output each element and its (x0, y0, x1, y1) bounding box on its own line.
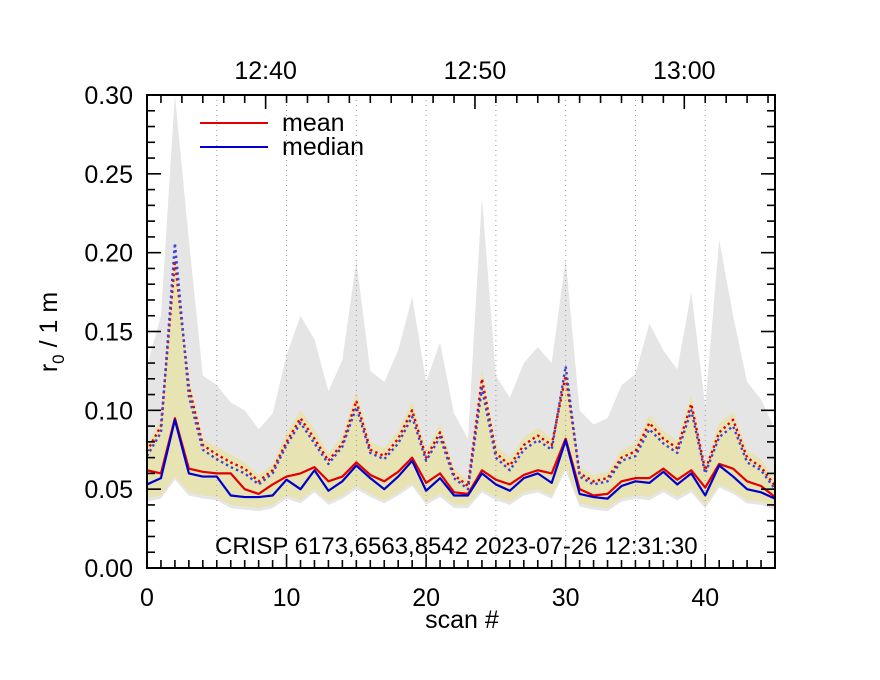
x-tick-label-3: 30 (552, 584, 580, 612)
figure-container: 0.000.050.100.150.200.250.3001020304012:… (0, 0, 880, 680)
x-tick-label-4: 40 (691, 584, 719, 612)
legend-label-median: median (282, 133, 364, 161)
top-tick-label-1: 12:50 (444, 57, 507, 85)
y-tick-label-6: 0.30 (84, 82, 133, 110)
y-axis-title-rest: / 1 m (35, 292, 63, 355)
chart-canvas: 0.000.050.100.150.200.250.3001020304012:… (0, 0, 880, 680)
y-tick-label-0: 0.00 (84, 555, 133, 583)
y-tick-label-1: 0.05 (84, 476, 133, 504)
x-tick-label-0: 0 (140, 584, 154, 612)
top-tick-label-2: 13:00 (653, 57, 716, 85)
y-tick-label-4: 0.20 (84, 240, 133, 268)
y-tick-label-3: 0.15 (84, 319, 133, 347)
chart-annotation: CRISP 6173,6563,8542 2023-07-26 12:31:30 (215, 533, 698, 560)
y-axis-title-base: r (35, 364, 63, 372)
y-axis-title-subscript: 0 (49, 354, 68, 363)
x-axis-title: scan # (425, 606, 499, 634)
x-tick-label-1: 10 (273, 584, 301, 612)
y-tick-label-2: 0.10 (84, 397, 133, 425)
y-tick-label-5: 0.25 (84, 161, 133, 189)
top-tick-label-0: 12:40 (234, 57, 297, 85)
